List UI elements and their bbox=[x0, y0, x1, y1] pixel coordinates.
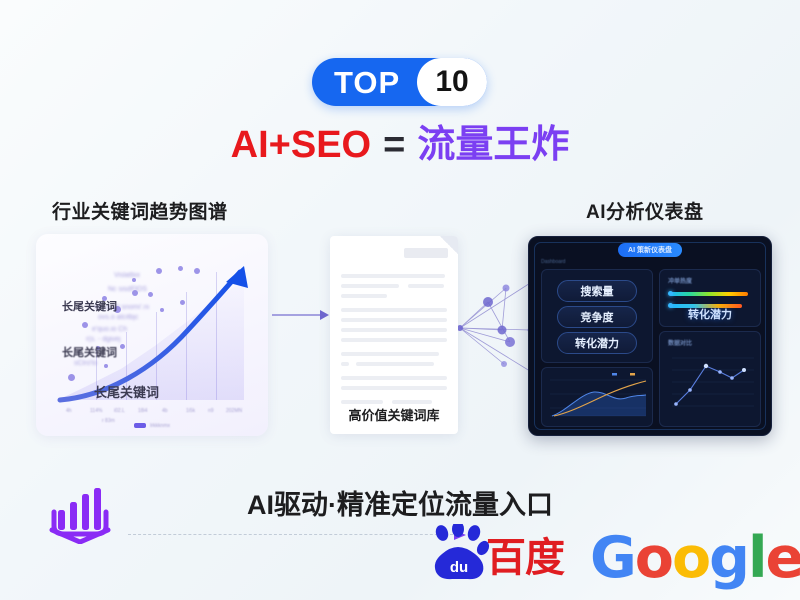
axis-tick: 114% bbox=[90, 408, 102, 414]
axis-tick: 202MN bbox=[226, 408, 242, 414]
metric-pill-conversion[interactable]: 转化潜力 bbox=[557, 332, 637, 354]
doc-text-line bbox=[341, 386, 447, 390]
dashboard-line-chart-panel: 数据对比 bbox=[659, 331, 761, 427]
google-letter-o1: o bbox=[635, 525, 672, 591]
doc-card-label: 高价值关键词库 bbox=[330, 405, 458, 424]
ai-dashboard-card: AI 策新仪表盘 Dashboard 搜索量 竞争度 转化潜力 冲单热度 bbox=[528, 236, 772, 436]
doc-text-line bbox=[341, 274, 445, 278]
baidu-paw-icon: du bbox=[428, 524, 490, 582]
headline-left: AI+SEO bbox=[231, 124, 371, 166]
scatter-dot bbox=[156, 268, 162, 274]
dashboard-area-chart-panel bbox=[541, 367, 653, 427]
dashboard-metrics-panel: 搜索量 竞争度 转化潜力 bbox=[541, 269, 653, 363]
headline-equals: = bbox=[383, 124, 405, 166]
keyword-label: 长尾关键词 bbox=[62, 344, 117, 360]
blur-text: Vislatbix bbox=[114, 272, 140, 279]
dashboard-gauge-panel: 冲单热度 转化潜力 bbox=[659, 269, 761, 327]
network-node bbox=[505, 337, 515, 347]
keyword-label: 长尾关键词 bbox=[62, 298, 117, 314]
scatter-dot bbox=[120, 344, 125, 349]
google-letter-e: e bbox=[766, 525, 800, 591]
network-node bbox=[483, 297, 493, 307]
gauge-bar-primary bbox=[670, 292, 748, 296]
doc-text-line bbox=[341, 376, 447, 380]
doc-text-line bbox=[408, 284, 444, 288]
baidu-wordmark-du: du bbox=[450, 559, 468, 576]
scatter-dot bbox=[104, 364, 108, 368]
doc-text-line bbox=[341, 308, 447, 312]
doc-header-chip bbox=[404, 248, 448, 258]
scatter-dot bbox=[82, 322, 88, 328]
doc-bullet bbox=[341, 362, 349, 366]
gauge-marker-dot bbox=[668, 291, 673, 296]
google-letter-g1: G bbox=[590, 525, 635, 591]
bottom-tagline: AI驱动·精准定位流量入口 bbox=[0, 483, 800, 522]
axis-tick: 4b bbox=[162, 408, 168, 414]
top-badge-word: TOP bbox=[334, 67, 400, 98]
slide-canvas: TOP 10 AI+SEO=流量王炸 行业关键词趋势图谱 AI分析仪表盘 bbox=[0, 0, 800, 600]
google-letter-o2: o bbox=[672, 525, 709, 591]
doc-text-line bbox=[341, 328, 447, 332]
metric-pill-search-volume[interactable]: 搜索量 bbox=[557, 280, 637, 302]
trend-chart-inner: Vislatbix Nc sisdFlOS ivis,a.00 snomi'.n… bbox=[36, 234, 268, 436]
area-chart-graphic bbox=[542, 368, 652, 426]
doc-text-line bbox=[392, 400, 432, 404]
network-node bbox=[501, 361, 507, 367]
scatter-dot bbox=[160, 308, 164, 312]
headline-right: 流量王炸 bbox=[417, 124, 569, 166]
doc-text-line bbox=[356, 362, 434, 366]
legend-label: Irkkknmx bbox=[150, 423, 170, 429]
top-badge-number-pill: 10 bbox=[417, 58, 487, 106]
blur-text: ovs.o atcitbjc bbox=[98, 314, 138, 321]
axis-caption: r 83m bbox=[102, 418, 115, 424]
metric-pill-competition[interactable]: 竞争度 bbox=[557, 306, 637, 328]
doc-text-line bbox=[341, 284, 399, 288]
section-label-dashboard: AI分析仪表盘 bbox=[586, 197, 704, 224]
doc-text-line bbox=[341, 338, 447, 342]
scatter-dot bbox=[180, 300, 185, 305]
axis-tick: 1i5k bbox=[186, 408, 195, 414]
flow-arrow-icon bbox=[272, 308, 330, 322]
dashboard-subtitle: Dashboard bbox=[541, 259, 565, 265]
scatter-dot bbox=[148, 292, 153, 297]
brand-logos: du 百度 Google bbox=[424, 520, 754, 586]
flow-dashed-line bbox=[128, 534, 458, 536]
scatter-dot bbox=[178, 266, 183, 271]
google-letter-g2: g bbox=[709, 525, 748, 591]
blur-text: e'quo.io Ch bbox=[92, 326, 127, 333]
trend-arrow-icon bbox=[36, 234, 268, 436]
doc-text-line bbox=[341, 352, 439, 356]
doc-text-line bbox=[341, 318, 447, 322]
doc-text-line bbox=[341, 400, 383, 404]
page-title: AI+SEO=流量王炸 bbox=[0, 126, 800, 164]
network-node bbox=[498, 326, 507, 335]
scatter-dot bbox=[68, 374, 75, 381]
scatter-dot bbox=[194, 268, 200, 274]
doc-text-line bbox=[341, 294, 387, 298]
google-wordmark: Google bbox=[590, 530, 800, 587]
gauge-panel-title: 冲单热度 bbox=[668, 276, 692, 285]
top-rank-badge: TOP 10 bbox=[312, 58, 487, 106]
axis-tick: i02.L bbox=[114, 408, 125, 414]
baidu-wordmark: 百度 bbox=[486, 538, 564, 578]
gauge-overlay-label: 转化潜力 bbox=[660, 306, 760, 322]
legend-swatch bbox=[134, 423, 146, 428]
network-node bbox=[503, 285, 510, 292]
blur-text: sClro'lo bbox=[74, 360, 97, 367]
axis-tick: 18i4 bbox=[138, 408, 147, 414]
axis-tick: 4h bbox=[66, 408, 72, 414]
dashboard-title-badge: AI 策新仪表盘 bbox=[618, 243, 682, 257]
blur-text: Nc sisdFlOS bbox=[108, 286, 147, 293]
line-chart-graphic bbox=[660, 332, 760, 426]
google-letter-l: l bbox=[748, 525, 766, 591]
keyword-library-doc-card: 高价值关键词库 bbox=[330, 236, 458, 434]
axis-tick: n9 bbox=[208, 408, 214, 414]
top-badge-number: 10 bbox=[435, 67, 468, 97]
blur-text: r(s. - dgivej bbox=[86, 336, 121, 343]
keyword-label: 长尾关键词 bbox=[94, 382, 159, 401]
section-label-trend: 行业关键词趋势图谱 bbox=[52, 197, 228, 224]
trend-chart-card: Vislatbix Nc sisdFlOS ivis,a.00 snomi'.n… bbox=[36, 234, 268, 436]
